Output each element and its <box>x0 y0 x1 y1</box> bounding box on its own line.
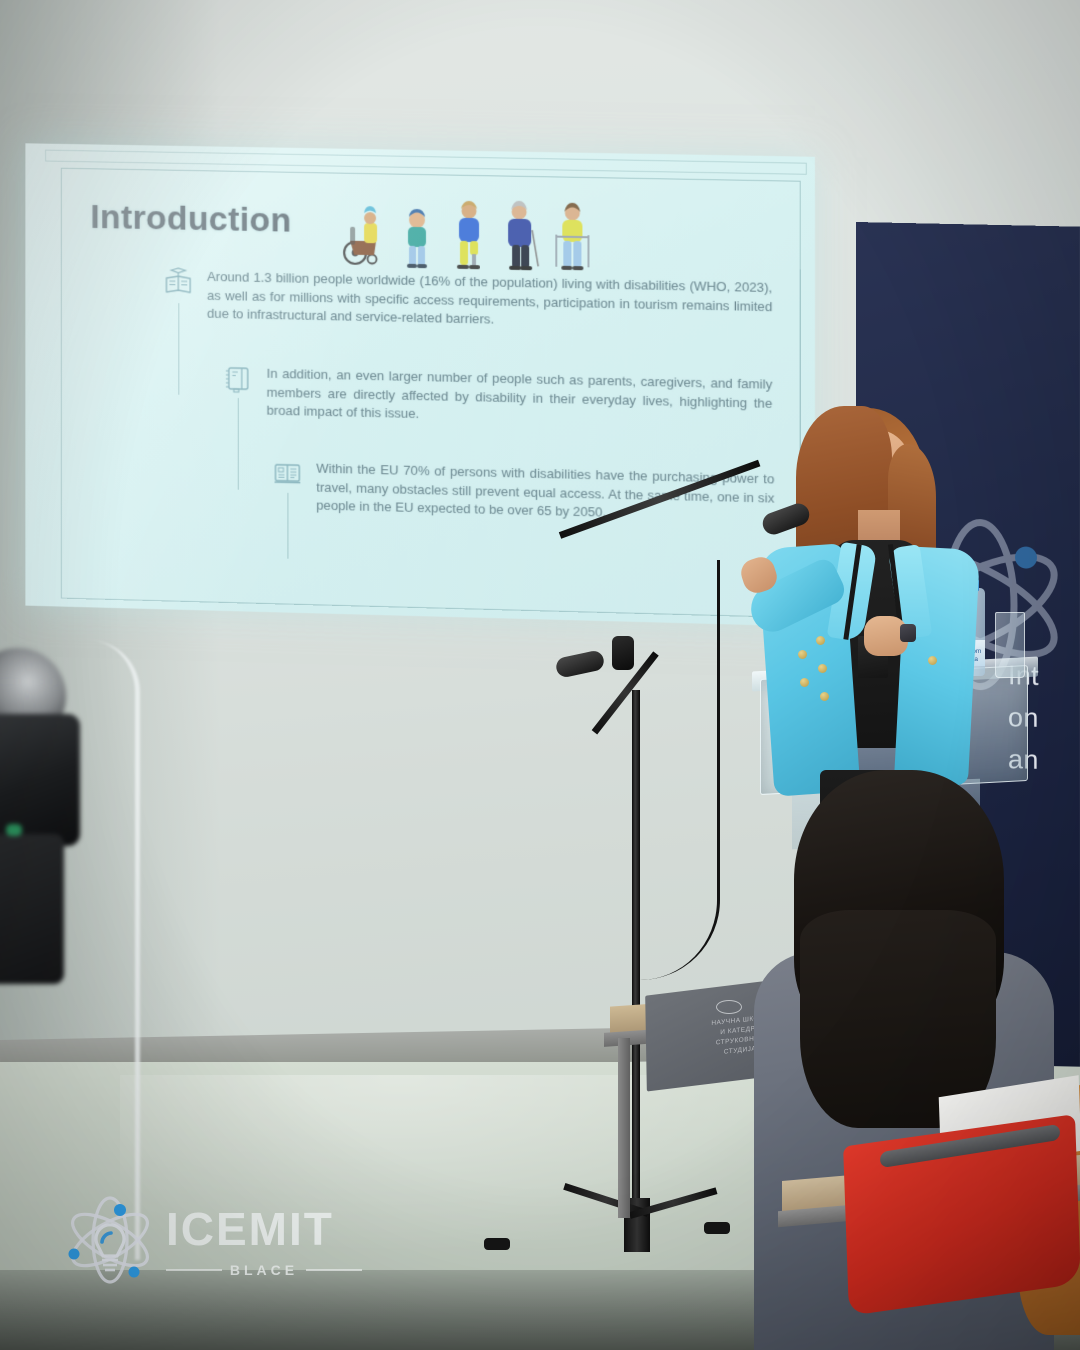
logo-rule-right <box>306 1269 362 1271</box>
blazer-button <box>818 664 827 673</box>
microphone-stand-pole <box>632 690 640 1238</box>
connector-line-3 <box>287 493 288 559</box>
icemit-subtitle: BLACE <box>230 1262 298 1278</box>
blazer-button <box>928 656 937 665</box>
microphone-cable <box>640 560 720 980</box>
photo-scene: Introduction <box>0 0 1080 1350</box>
spiral-notebook-icon <box>223 364 253 395</box>
projected-slide: Introduction <box>25 143 815 626</box>
slide-block-3-text: Within the EU 70% of persons with disabi… <box>316 460 774 527</box>
icemit-atom-bulb-icon <box>62 1196 158 1296</box>
slide-block-2-text: In addition, an even larger number of pe… <box>267 365 773 432</box>
tripod-foot-right <box>704 1222 730 1234</box>
blazer-button <box>798 650 807 659</box>
open-book-icon <box>273 459 303 490</box>
icemit-subtitle-row: BLACE <box>166 1262 362 1278</box>
connector-line-1 <box>178 303 179 395</box>
slide-block-1: Around 1.3 billion people worldwide (16%… <box>163 267 772 336</box>
video-camera <box>0 648 106 978</box>
blazer-button <box>816 636 825 645</box>
blazer-button <box>820 692 829 701</box>
slide-block-3: Within the EU 70% of persons with disabi… <box>273 459 775 527</box>
front-desk-leg-left <box>618 1038 630 1218</box>
connector-line-2 <box>238 398 239 490</box>
camera-grip <box>0 834 64 984</box>
logo-rule-left <box>166 1269 222 1271</box>
speaker-wristwatch <box>900 624 916 642</box>
slide-block-1-text: Around 1.3 billion people worldwide (16%… <box>207 268 772 336</box>
tripod-foot-left <box>484 1238 510 1250</box>
camera-record-light <box>6 824 22 836</box>
drinking-glass <box>995 612 1025 678</box>
blazer-button <box>800 678 809 687</box>
icemit-wordmark: ICEMIT <box>166 1202 334 1256</box>
folder-seal-emblem <box>716 1000 742 1014</box>
slide-block-2: In addition, an even larger number of pe… <box>223 364 772 432</box>
icemit-logo: ICEMIT BLACE <box>62 1192 362 1302</box>
book-graduation-cap-icon <box>163 267 193 297</box>
slide-content: Around 1.3 billion people worldwide (16%… <box>25 143 815 626</box>
microphone-boom-clamp <box>612 636 634 670</box>
